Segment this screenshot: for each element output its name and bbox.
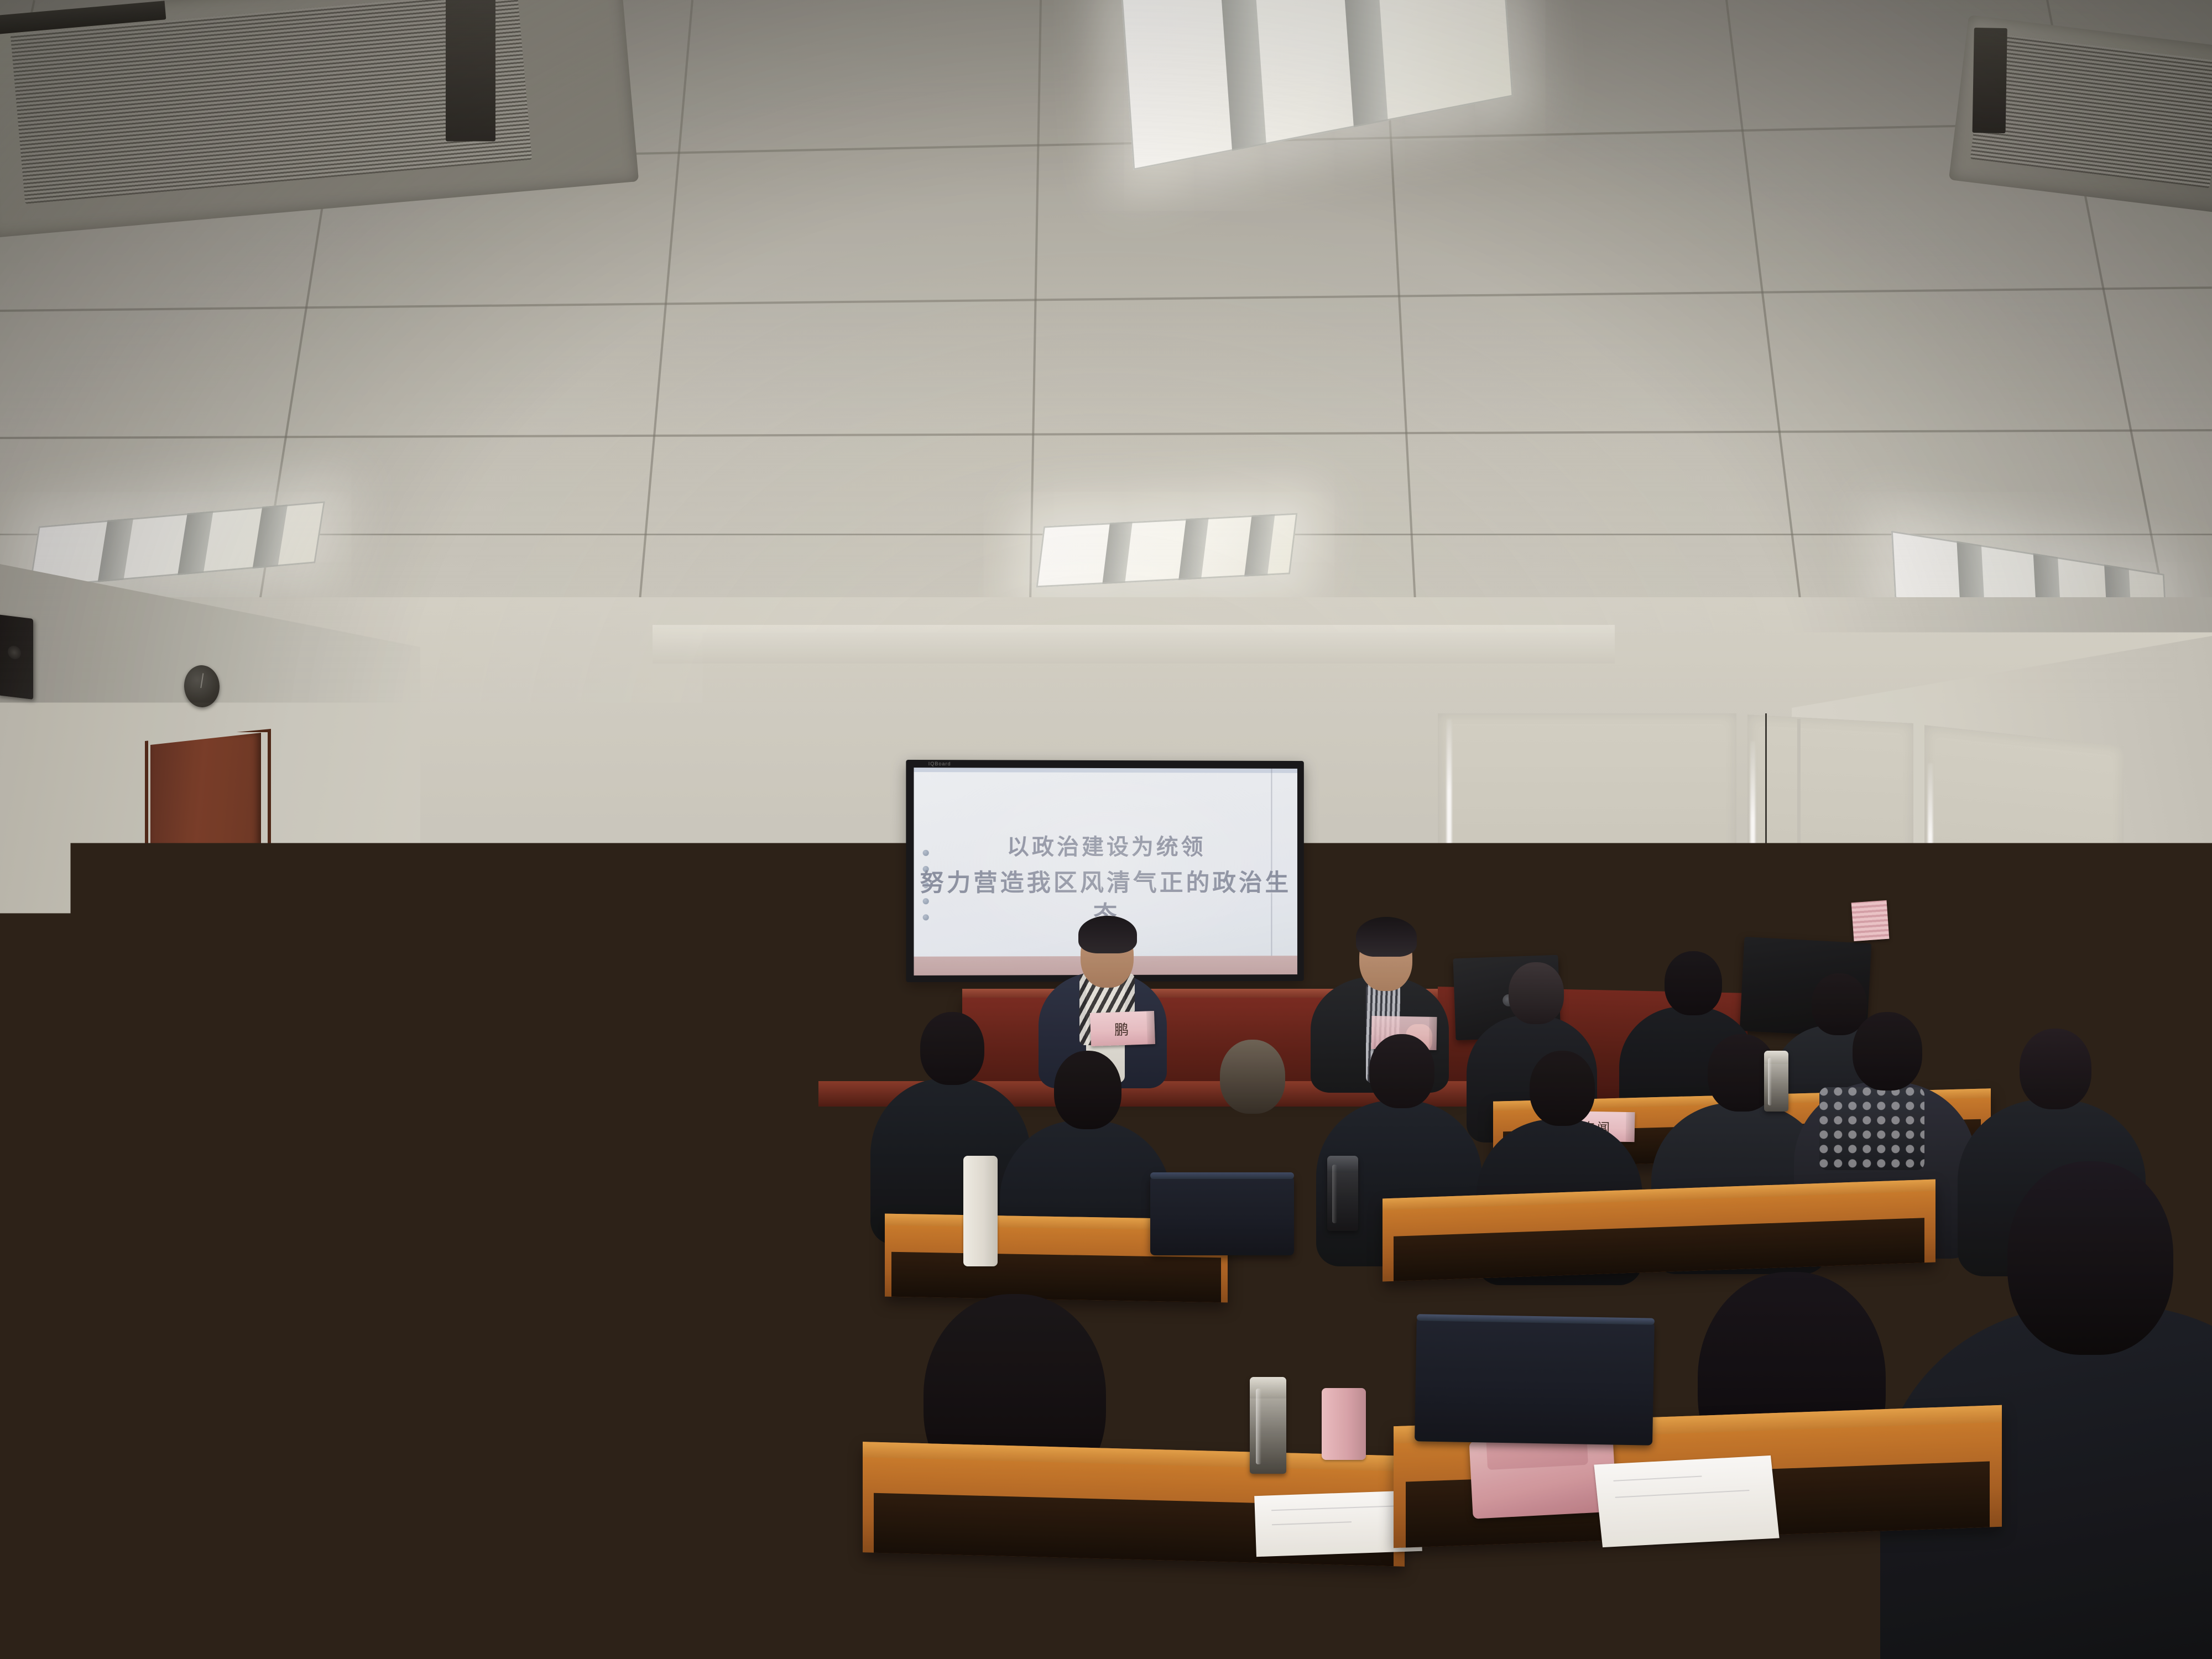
placard-presenter-left: 鹏 — [1090, 1011, 1155, 1046]
audience-head — [1530, 1051, 1595, 1126]
audience-head — [265, 1078, 376, 1206]
pink-cup-front-center[interactable] — [1322, 1388, 1366, 1460]
chair-front-left[interactable] — [81, 1338, 317, 1444]
chair-far-right[interactable] — [2011, 1290, 2212, 1413]
notebook-left[interactable] — [193, 1529, 366, 1574]
slide-headline-line-1: 以政治建设为统领 — [914, 832, 1297, 862]
audience-head — [1853, 1012, 1922, 1091]
board-brand-label: IQBoard — [928, 761, 951, 766]
audience-head — [920, 1012, 984, 1085]
ceiling-light-panel-3 — [1036, 513, 1298, 588]
ceiling-light-panel-2 — [29, 501, 325, 588]
blind-light-leak-3 — [1928, 763, 1933, 1051]
placard-name-text: 滨 — [314, 1379, 336, 1408]
audience-patterned-scarf — [1819, 1087, 1924, 1170]
tea-canister[interactable] — [349, 995, 373, 1021]
air-conditioner-unit-right — [1949, 15, 2212, 217]
vacuum-flask-mid-right[interactable] — [1327, 1156, 1358, 1231]
audience-head — [1054, 1051, 1121, 1129]
audience-head — [2129, 940, 2188, 1005]
placard-name-text: 鹏 — [1114, 1018, 1131, 1039]
air-conditioner-unit — [0, 0, 639, 238]
audience-head — [1985, 962, 2044, 1027]
audience-head — [1220, 1040, 1285, 1114]
vacuum-flask-front-center[interactable] — [1250, 1377, 1286, 1474]
white-thermos-cup[interactable] — [963, 1156, 998, 1266]
presenter-left-hair — [1078, 916, 1137, 953]
audience-head — [435, 1051, 501, 1125]
placard-zhu-ming: 竹鸣 — [152, 1084, 217, 1114]
ceiling-soffit — [653, 625, 1615, 664]
audience-head — [1812, 973, 1867, 1035]
chair-mid-right[interactable] — [1415, 1314, 1655, 1445]
audience-head — [1665, 951, 1722, 1015]
door-handle[interactable] — [245, 885, 249, 904]
audience-head — [511, 940, 566, 1004]
audience-head — [2020, 1029, 2091, 1109]
audience-head — [149, 962, 207, 1024]
chair-back-center[interactable] — [1150, 1172, 1294, 1255]
audience-head — [609, 1034, 674, 1107]
presenter-right-hair — [1356, 917, 1417, 957]
ceiling-light-panel-1 — [1119, 0, 1513, 170]
audience-head — [1369, 1034, 1434, 1108]
audience-head — [700, 957, 754, 1018]
chair-mid-left[interactable] — [535, 1147, 704, 1247]
vacuum-flask-right[interactable] — [1764, 1051, 1788, 1112]
spare-name-placards[interactable] — [1851, 900, 1890, 941]
meeting-document-left[interactable] — [92, 1432, 450, 1550]
meeting-room-photo: 以政治建设为统领 努力营造我区风清气正的政治生态 IQBoard — [0, 0, 2212, 1659]
audience-head — [1509, 962, 1564, 1024]
blind-light-leak-1 — [1447, 719, 1452, 1006]
wall-speaker — [0, 614, 33, 700]
meeting-document-right[interactable] — [1594, 1455, 1779, 1547]
audience-head — [396, 967, 451, 1027]
handbag-front-right[interactable] — [1469, 1434, 1617, 1519]
placard-name-text: 竹鸣 — [170, 1091, 199, 1109]
